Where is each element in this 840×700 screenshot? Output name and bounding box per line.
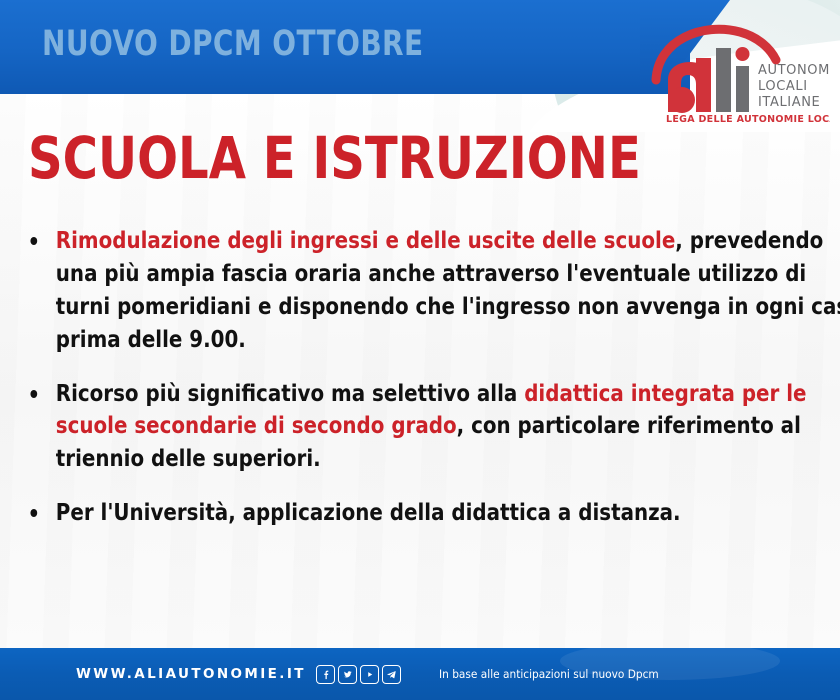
svg-text:AUTONOMIE: AUTONOMIE: [758, 63, 830, 78]
bullet-lead: Per l'Università, applicazione della did…: [56, 498, 681, 526]
telegram-icon[interactable]: [382, 665, 401, 684]
social-links: [316, 665, 401, 684]
banner-title: NUOVO DPCM OTTOBRE: [42, 27, 424, 62]
svg-text:ITALIANE: ITALIANE: [758, 95, 820, 110]
bullet-item: Per l'Università, applicazione della did…: [22, 496, 840, 529]
bullet-item: Ricorso più significativo ma selettivo a…: [22, 377, 840, 476]
bullet-dot-icon: [30, 237, 37, 245]
slide-footer: WWW.ALIAUTONOMIE.IT: [0, 648, 840, 700]
svg-text:LOCALI: LOCALI: [758, 79, 808, 94]
bullet-highlight: Rimodulazione degli ingressi e delle usc…: [56, 226, 676, 254]
svg-text:LEGA DELLE AUTONOMIE LOCALI: LEGA DELLE AUTONOMIE LOCALI: [666, 114, 830, 124]
twitter-icon[interactable]: [338, 665, 357, 684]
bullet-list: Rimodulazione degli ingressi e delle usc…: [22, 224, 822, 550]
bullet-item: Rimodulazione degli ingressi e delle usc…: [22, 224, 840, 356]
bullet-dot-icon: [30, 390, 37, 398]
footer-website-url[interactable]: WWW.ALIAUTONOMIE.IT: [76, 666, 306, 682]
slide-header: NUOVO DPCM OTTOBRE AUTONOMIE LOCALI ITAL…: [0, 0, 840, 132]
footer-disclaimer: In base alle anticipazioni sul nuovo Dpc…: [439, 667, 659, 681]
youtube-icon[interactable]: [360, 665, 379, 684]
page-title: SCUOLA E ISTRUZIONE: [28, 128, 641, 189]
bullet-dot-icon: [30, 509, 37, 517]
ali-logo: AUTONOMIE LOCALI ITALIANE LEGA DELLE AUT…: [648, 24, 830, 124]
facebook-icon[interactable]: [316, 665, 335, 684]
slide-canvas: NUOVO DPCM OTTOBRE AUTONOMIE LOCALI ITAL…: [0, 0, 840, 700]
bullet-lead: Ricorso più significativo ma selettivo a…: [56, 379, 524, 407]
